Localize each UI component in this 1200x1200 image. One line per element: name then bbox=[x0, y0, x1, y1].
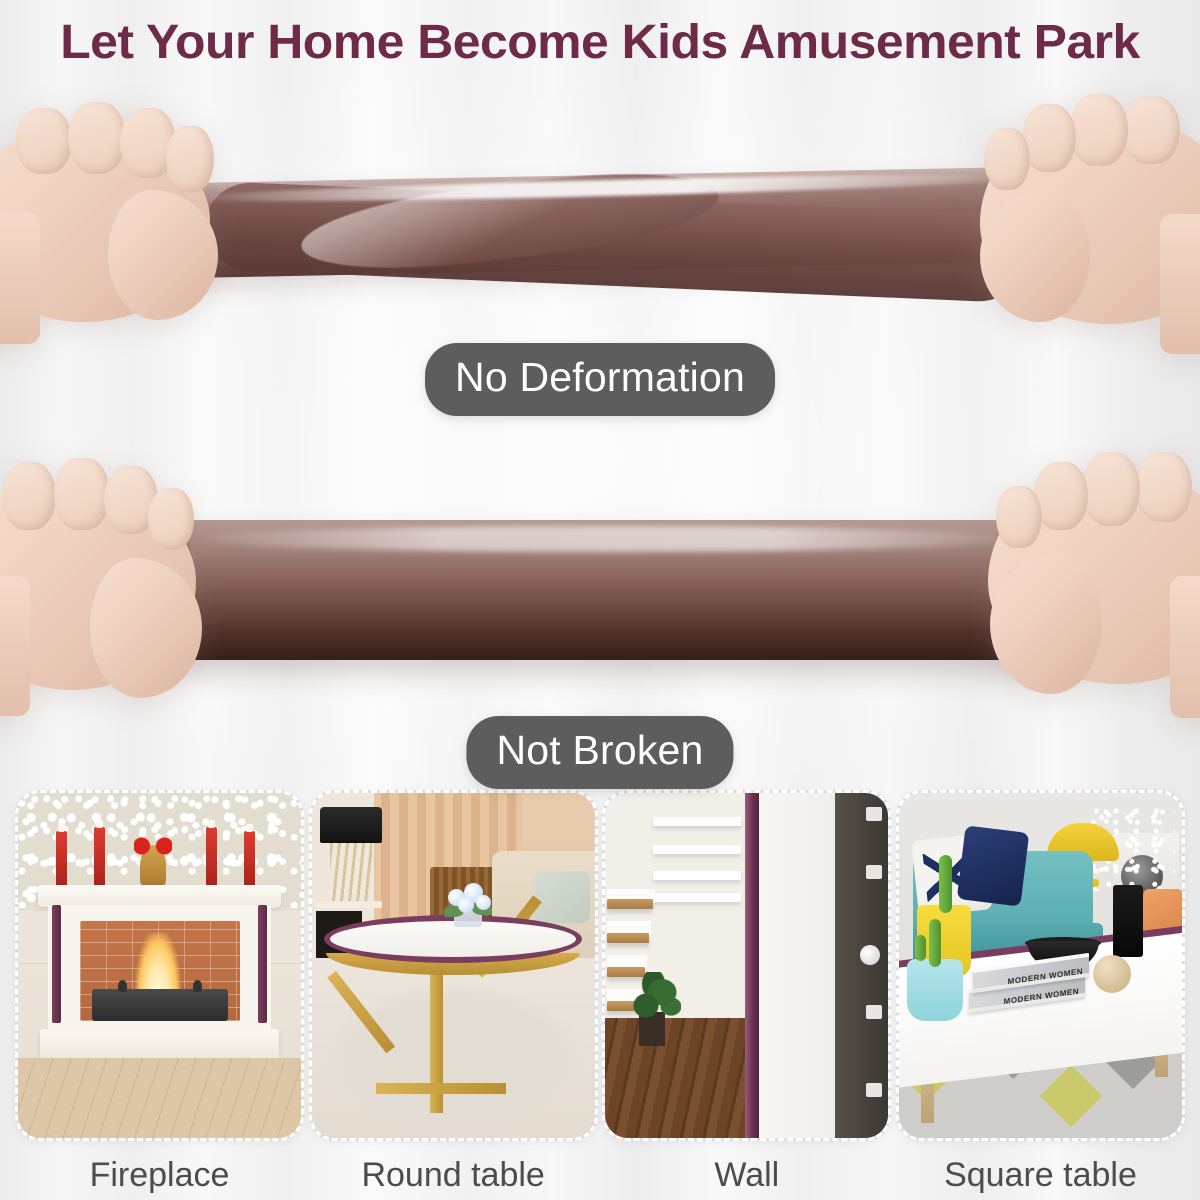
left-hand-gripping bbox=[0, 458, 250, 748]
badge-no-deformation: No Deformation bbox=[425, 343, 775, 416]
usecase-caption-round-table: Round table bbox=[361, 1155, 544, 1195]
black-vase bbox=[1113, 885, 1143, 957]
usecase-thumbnail-fireplace[interactable] bbox=[15, 790, 304, 1141]
potted-plant bbox=[631, 972, 681, 1020]
edge-guard-strip bbox=[52, 905, 61, 1023]
square-table-scene: MODERN WOMEN MODERN WOMEN bbox=[899, 793, 1182, 1138]
table-lamp bbox=[320, 807, 382, 843]
round-table-scene bbox=[312, 793, 595, 1138]
page-title: Let Your Home Become Kids Amusement Park bbox=[0, 14, 1200, 72]
usecase-item-square-table[interactable]: MODERN WOMEN MODERN WOMEN Square table bbox=[899, 790, 1182, 1200]
left-hand-gripping bbox=[0, 100, 260, 400]
badge-not-broken: Not Broken bbox=[466, 716, 733, 789]
usecase-caption-fireplace: Fireplace bbox=[90, 1155, 230, 1195]
fireplace-scene bbox=[18, 793, 301, 1138]
edge-guard-strip bbox=[258, 905, 267, 1023]
wall-scene bbox=[605, 793, 888, 1138]
usecase-thumbnail-round-table[interactable] bbox=[309, 790, 598, 1141]
usecase-thumbnail-square-table[interactable]: MODERN WOMEN MODERN WOMEN bbox=[896, 790, 1185, 1141]
blue-planter bbox=[907, 959, 963, 1021]
usecase-thumbnail-wall[interactable] bbox=[602, 790, 891, 1141]
hero-panel-not-broken bbox=[0, 430, 1200, 760]
usecase-item-fireplace[interactable]: Fireplace bbox=[18, 790, 301, 1200]
usecase-caption-wall: Wall bbox=[714, 1155, 779, 1195]
foam-strip-highlight bbox=[190, 526, 1020, 552]
round-table-top-with-guard bbox=[324, 915, 582, 963]
red-bow-decoration bbox=[134, 837, 172, 855]
right-hand-gripping bbox=[930, 452, 1200, 752]
right-hand-gripping bbox=[920, 94, 1200, 404]
usecase-item-wall[interactable]: Wall bbox=[605, 790, 888, 1200]
edge-guard-strip bbox=[745, 793, 759, 1138]
navy-pillow bbox=[957, 825, 1030, 906]
usecase-item-round-table[interactable]: Round table bbox=[312, 790, 595, 1200]
usecase-thumbnail-row: Fireplace bbox=[0, 790, 1200, 1200]
product-image-canvas: Let Your Home Become Kids Amusement Park bbox=[0, 0, 1200, 1200]
usecase-caption-square-table: Square table bbox=[944, 1155, 1137, 1195]
